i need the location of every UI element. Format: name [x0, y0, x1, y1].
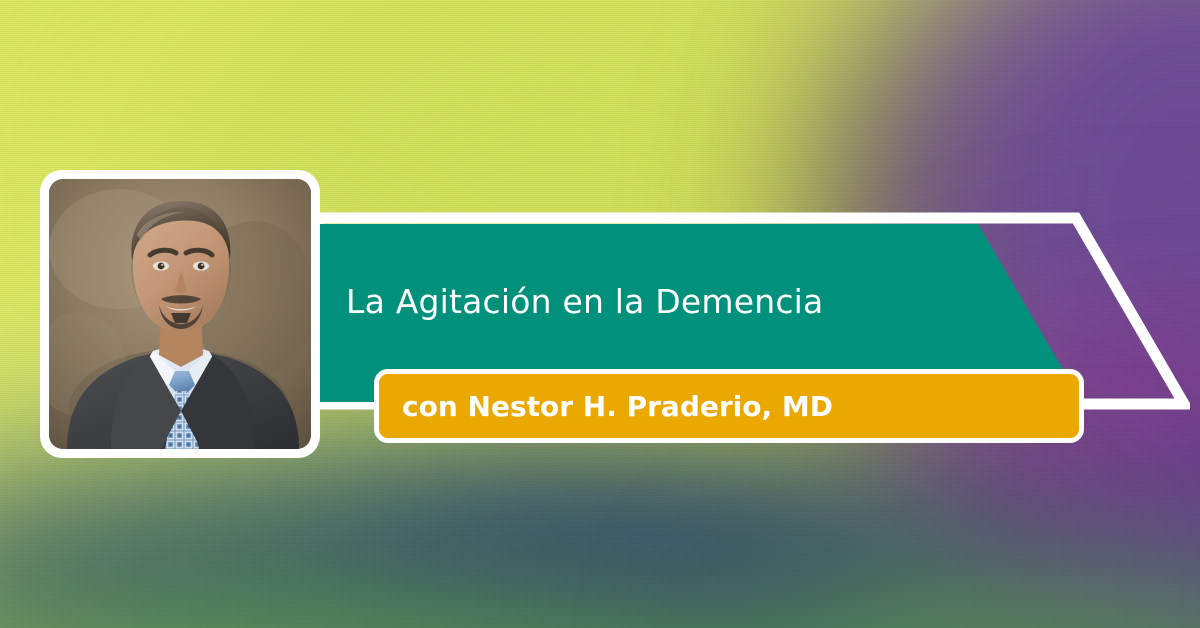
promo-banner-canvas: La Agitación en la Demencia con Nestor H… — [0, 0, 1200, 628]
speaker-portrait-card — [40, 170, 320, 458]
banner-subtitle: con Nestor H. Praderio, MD — [379, 390, 833, 423]
subtitle-pill: con Nestor H. Praderio, MD — [374, 369, 1084, 443]
banner-title: La Agitación en la Demencia — [346, 282, 823, 321]
portrait-frame — [49, 179, 311, 449]
